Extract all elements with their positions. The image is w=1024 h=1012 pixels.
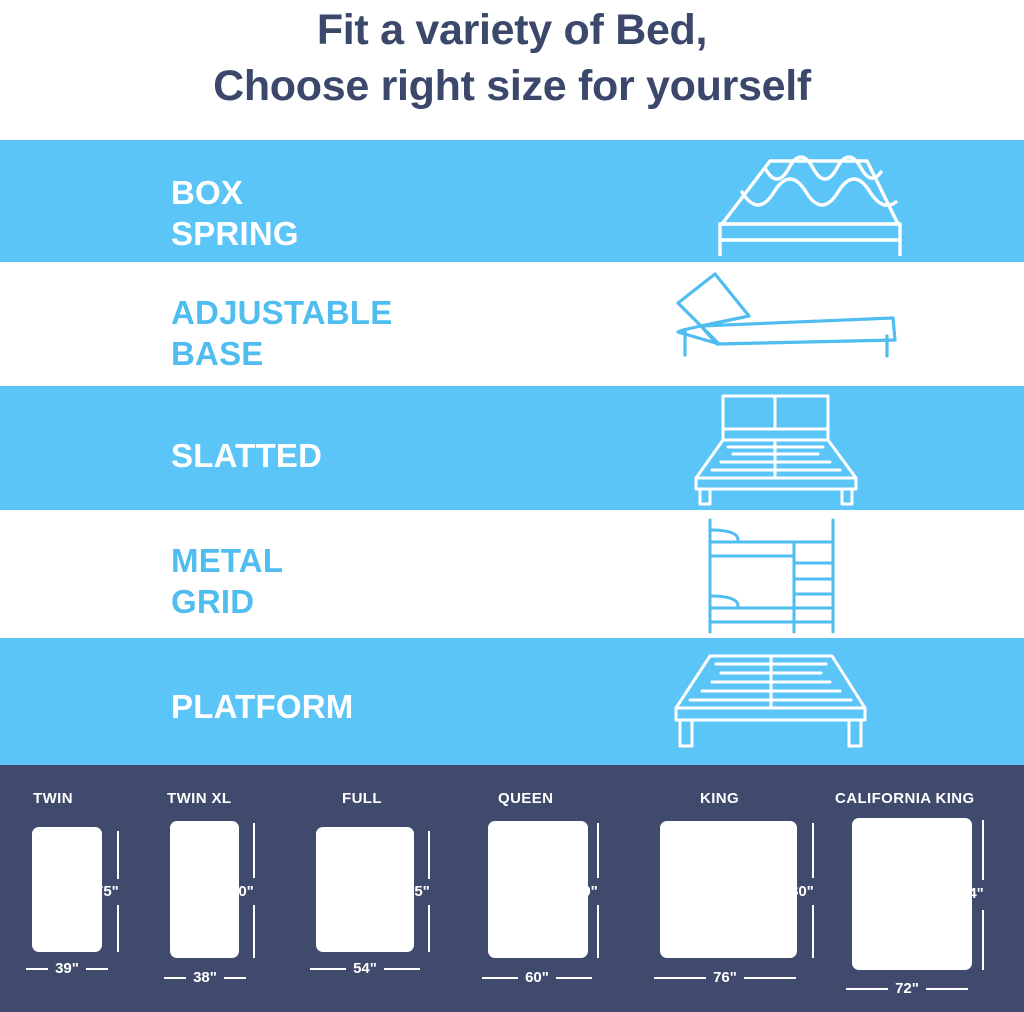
size-label-queen: QUEEN [498,790,553,807]
dim-label-full-length: 75" [406,883,430,900]
mattress-rect-california-king [852,818,972,970]
dim-label-twin-width: 39" [50,960,84,977]
dim-line-california-king-length-bottom [982,910,984,970]
dim-line-queen-width-left [482,977,518,979]
dim-line-twin-xl-length-top [253,823,255,878]
size-cell-full: FULL 75" 54" [310,765,490,1012]
size-cell-twin-xl: TWIN XL 80" 38" [160,765,320,1012]
dim-line-king-length-bottom [812,905,814,958]
title-line-2: Choose right size for yourself [213,58,811,114]
bed-type-row-box-spring: BOX SPRING [0,140,1024,262]
dim-label-california-king-length: 84" [960,885,984,902]
size-label-twin-xl: TWIN XL [167,790,231,807]
metal-grid-bunk-bed-icon [690,518,870,636]
bed-type-label-platform: PLATFORM [171,686,353,727]
dim-line-king-length-top [812,823,814,878]
bed-type-row-platform: PLATFORM [0,638,1024,765]
mattress-rect-queen [488,821,588,958]
dim-line-california-king-width-left [846,988,888,990]
size-label-twin: TWIN [33,790,73,807]
dim-label-twin-xl-width: 38" [188,969,222,986]
bed-type-row-adjustable-base: ADJUSTABLE BASE [0,262,1024,386]
mattress-rect-king [660,821,797,958]
dim-label-king-width: 76" [708,969,742,986]
box-spring-icon [655,148,905,256]
dim-line-full-length-top [428,831,430,879]
bed-type-label-slatted: SLATTED [171,435,322,476]
dim-label-full-width: 54" [348,960,382,977]
bed-type-label-box-spring: BOX SPRING [171,172,299,254]
dim-line-full-width-right [384,968,420,970]
mattress-rect-twin-xl [170,821,239,958]
title-line-1: Fit a variety of Bed, [317,2,707,58]
size-label-full: FULL [342,790,382,807]
dim-line-twin-xl-length-bottom [253,905,255,958]
dim-line-twin-xl-width-left [164,977,186,979]
dim-line-twin-width-left [26,968,48,970]
dim-label-king-length: 80" [790,883,814,900]
dim-line-twin-width-right [86,968,108,970]
page-title: Fit a variety of Bed, Choose right size … [0,0,1024,140]
dim-line-full-width-left [310,968,346,970]
dim-line-full-length-bottom [428,905,430,952]
dim-line-queen-width-right [556,977,592,979]
bed-type-row-slatted: SLATTED [0,386,1024,510]
dim-line-california-king-length-top [982,820,984,880]
dim-line-twin-length-top [117,831,119,879]
bed-type-row-metal-grid: METAL GRID [0,510,1024,638]
dim-line-queen-length-bottom [597,905,599,958]
dim-line-twin-xl-width-right [224,977,246,979]
mattress-size-comparison-band: TWIN 75" 39" TWIN XL 80" 38" FULL 75" [0,765,1024,1012]
dim-line-king-width-left [654,977,706,979]
dim-line-king-width-right [744,977,796,979]
size-label-king: KING [700,790,739,807]
dim-label-queen-length: 80" [574,883,598,900]
dim-label-queen-width: 60" [520,969,554,986]
slatted-bed-icon [660,390,890,506]
dim-label-california-king-width: 72" [890,980,924,997]
size-label-california-king: CALIFORNIA KING [835,790,975,807]
platform-bed-icon [660,646,880,756]
dim-label-twin-length: 75" [95,883,119,900]
size-cell-california-king: CALIFORNIA KING 84" 72" [830,765,1024,1012]
size-cell-twin: TWIN 75" 39" [0,765,160,1012]
mattress-rect-full [316,827,414,952]
bed-type-label-adjustable-base: ADJUSTABLE BASE [171,292,392,374]
dim-line-california-king-width-right [926,988,968,990]
bed-type-label-metal-grid: METAL GRID [171,540,283,622]
dim-label-twin-xl-length: 80" [230,883,254,900]
mattress-rect-twin [32,827,102,952]
dim-line-twin-length-bottom [117,905,119,952]
infographic-page: Fit a variety of Bed, Choose right size … [0,0,1024,1012]
adjustable-base-icon [655,270,905,378]
dim-line-queen-length-top [597,823,599,878]
size-cell-king: KING 80" 76" [640,765,860,1012]
